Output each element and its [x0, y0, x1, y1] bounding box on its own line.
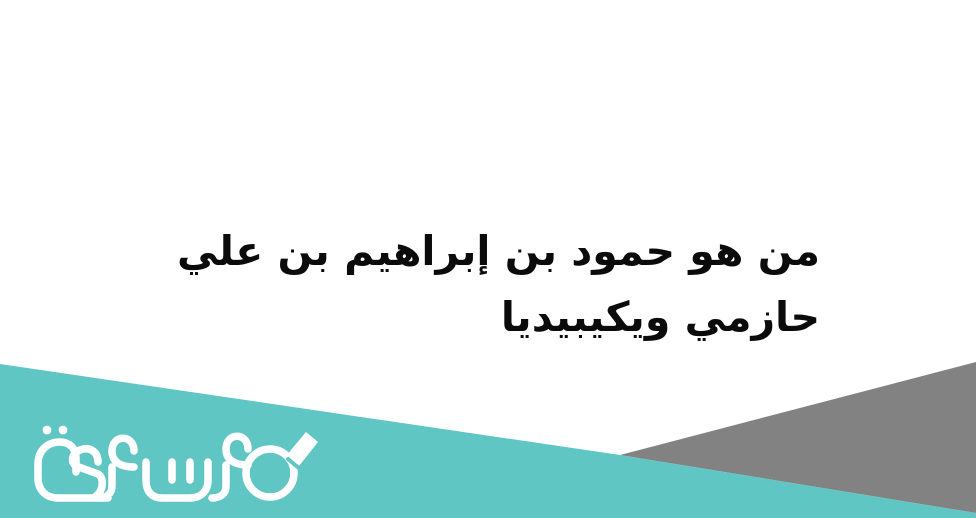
headline-line-2: حازمي ويكيبيديا [156, 284, 820, 350]
headline-line-1: من هو حمود بن إبراهيم بن علي [156, 218, 820, 284]
logo-letter-taamarbuta [38, 442, 76, 498]
logo-letter-waw2 [112, 438, 134, 467]
logo-letterforms [38, 436, 294, 498]
logo-letter-waw-tail [212, 465, 226, 498]
logo-letter-seen-bowl [146, 462, 208, 498]
brand-logo[interactable]: موسوعة [12, 418, 322, 510]
headline: من هو حمود بن إبراهيم بن علي حازمي ويكيب… [156, 218, 820, 351]
logo-taamarbuta-dots [43, 426, 68, 435]
magnifier-pen-icon [286, 432, 318, 469]
article-card: من هو حمود بن إبراهيم بن علي حازمي ويكيب… [0, 0, 976, 518]
logo-letter-seen-teeth [172, 462, 208, 480]
logo-letter-waw [226, 436, 248, 465]
